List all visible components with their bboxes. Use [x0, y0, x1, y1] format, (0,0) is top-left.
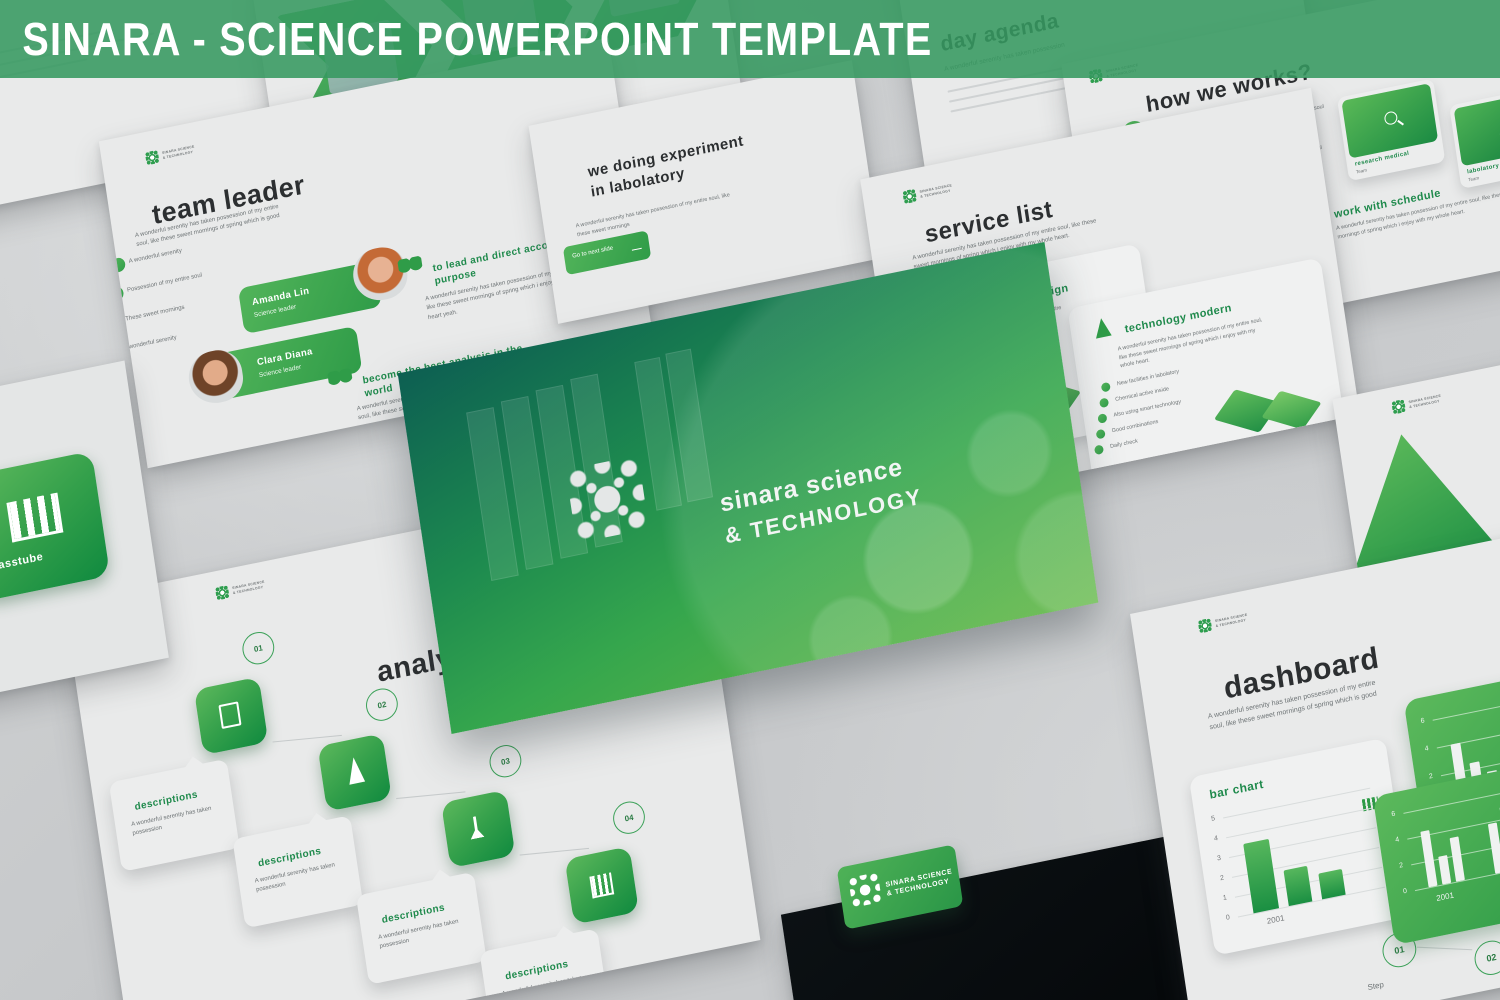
bar-chart-title: Bar Chart	[1209, 777, 1265, 802]
bullet-dot	[109, 286, 125, 303]
dashboard-step-number: 01	[1394, 944, 1405, 956]
brand-logo: SINARA SCIENCE & TECHNOLOGY	[1391, 392, 1442, 415]
molecule-icon	[145, 150, 160, 165]
mockup-canvas: day agenda A wonderful serenity has take…	[0, 0, 1500, 1000]
ytick: 6	[1420, 717, 1425, 725]
bullet-dot	[107, 315, 123, 332]
member-name: Clara Diana	[256, 346, 313, 368]
service-item: Daily check	[1110, 437, 1139, 451]
ytick: 6	[1391, 811, 1396, 819]
test-tube-rack-icon	[6, 493, 63, 543]
microscope-icon	[1093, 317, 1111, 339]
bullet-dot	[1099, 397, 1109, 408]
analysis-callout-01: Descriptions A wonderful serenity has ta…	[109, 759, 240, 872]
molecule-icon	[848, 872, 882, 908]
photo-card-sub: Team	[1356, 167, 1368, 176]
quote-icon	[397, 256, 423, 277]
team-bullet-1: Possession of my entire soul	[127, 263, 246, 296]
team-bullet-2: These sweet mornings	[125, 292, 244, 325]
ytick: 2	[1220, 875, 1225, 883]
dashboard-step-label: Step	[1367, 979, 1385, 995]
bar	[1318, 869, 1345, 900]
isometric-art	[1261, 391, 1321, 430]
ytick: 3	[1217, 855, 1222, 863]
analysis-step-circle-02: 02	[364, 686, 400, 724]
analysis-callout-02: Descriptions A wonderful serenity has ta…	[232, 815, 363, 928]
team-bullet-3: A wonderful serenity	[123, 321, 242, 354]
member-name: Amanda Lin	[251, 286, 310, 309]
bullet-dot	[110, 257, 126, 274]
analysis-callout-04: Descriptions A wonderful serenity has ta…	[479, 928, 610, 1000]
molecule-icon	[1391, 399, 1406, 414]
brand-logo: SINARA SCIENCE & TECHNOLOGY	[1198, 611, 1249, 634]
analysis-callout-03: Descriptions A wonderful serenity has ta…	[356, 872, 487, 985]
hero-molecule-icon	[566, 455, 649, 543]
analysis-step-circle-01: 01	[240, 629, 276, 667]
bar	[1284, 866, 1313, 906]
arrow-right-icon	[632, 248, 642, 251]
glasstube-card-label: Glasstube	[0, 551, 44, 575]
experiment-title: we doing experiment in labolatory	[587, 117, 818, 203]
ytick: 0	[1403, 888, 1408, 896]
molecule-icon	[215, 585, 230, 600]
brand-logo: SINARA SCIENCE & TECHNOLOGY	[902, 181, 953, 204]
test-tube-rack-icon	[218, 701, 241, 729]
analysis-tile-01[interactable]	[194, 677, 268, 756]
go-to-next-slide-label: Go to next slide	[572, 245, 614, 259]
ytick: 4	[1424, 745, 1429, 753]
ytick: 0	[1226, 914, 1231, 922]
analysis-tile-04[interactable]	[565, 846, 639, 925]
service-item: New facilities in labolatory	[1116, 368, 1179, 389]
page-title: SINARA - SCIENCE POWERPOINT TEMPLATE	[0, 12, 933, 66]
bar	[1450, 836, 1465, 881]
ytick: 2	[1429, 773, 1434, 781]
brand-logo: SINARA SCIENCE & TECHNOLOGY	[215, 578, 266, 601]
hero-title: sinara science & TECHNOLOGY	[718, 428, 1021, 551]
title-banner: SINARA - SCIENCE POWERPOINT TEMPLATE	[0, 0, 1500, 78]
analysis-step-number: 03	[500, 756, 510, 767]
bullet-dot	[1094, 444, 1104, 455]
ytick: 5	[1211, 815, 1216, 823]
microscope-icon	[467, 815, 484, 840]
photo-card-research-medical[interactable]: research medical Team	[1337, 78, 1445, 181]
chart-card-bar-chart[interactable]: Bar Chart 5 4 3 2 1 0 2001	[1189, 738, 1412, 956]
brand-logo: SINARA SCIENCE & TECHNOLOGY	[145, 142, 196, 165]
analysis-tile-03[interactable]	[441, 790, 515, 869]
molecule-icon	[1198, 618, 1213, 633]
analysis-tile-02[interactable]	[317, 733, 391, 812]
xtick: 2001	[1436, 891, 1455, 903]
glasstube-icon	[589, 872, 614, 898]
analysis-step-circle-03: 03	[487, 742, 523, 780]
glasstube-card[interactable]: Glasstube	[0, 451, 110, 602]
photo-card-sub: Team	[1468, 175, 1480, 184]
analysis-step-number: 01	[253, 643, 263, 654]
ytick: 1	[1223, 894, 1228, 902]
ytick: 4	[1395, 836, 1400, 844]
service-item: Good combinations	[1111, 418, 1159, 436]
analysis-step-number: 04	[624, 812, 634, 823]
dashboard-step-circle-02: 02	[1472, 938, 1500, 978]
go-to-next-slide-button[interactable]: Go to next slide	[563, 230, 651, 275]
molecule-icon	[902, 189, 917, 204]
ytick: 2	[1399, 862, 1404, 870]
analysis-step-circle-04: 04	[611, 799, 647, 837]
bar	[1438, 855, 1451, 885]
quote-icon	[327, 368, 353, 389]
photo-card-labolatory-modern[interactable]: labolatory modern Team	[1449, 86, 1500, 189]
bullet-dot	[1096, 429, 1106, 440]
dashboard-step-number: 02	[1486, 952, 1497, 964]
analysis-step-number: 02	[377, 699, 387, 710]
ytick: 4	[1214, 835, 1219, 843]
bullet-dot	[1101, 382, 1111, 393]
flask-icon	[346, 756, 366, 785]
xtick: 2001	[1266, 913, 1285, 925]
bullet-dot	[1097, 413, 1107, 424]
bar	[1243, 839, 1279, 914]
